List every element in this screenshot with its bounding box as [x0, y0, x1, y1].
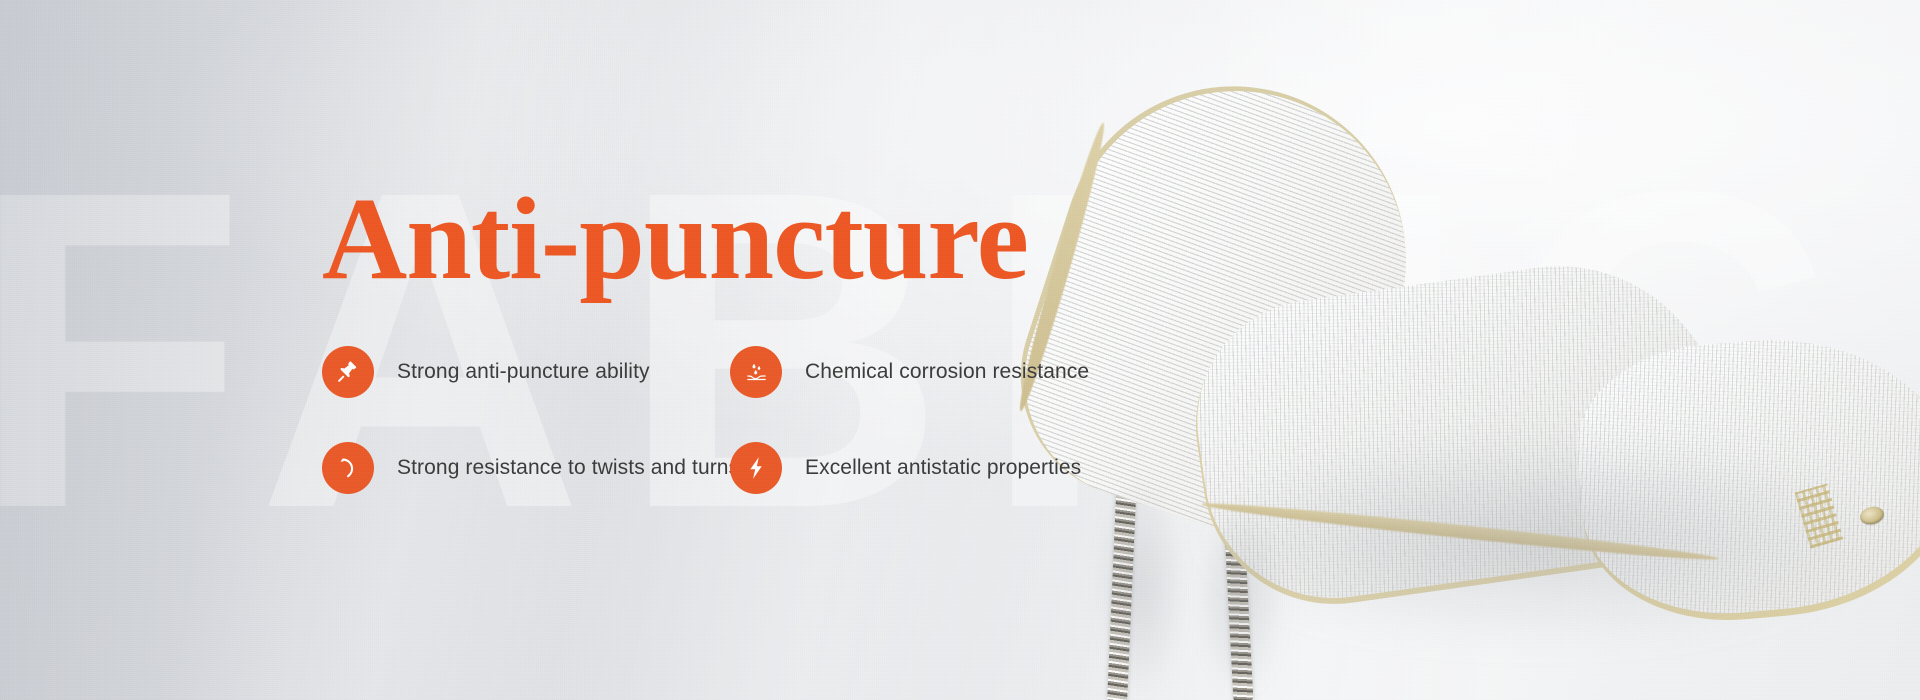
anti-puncture-insole-plate — [1060, 95, 1920, 625]
rotate-twist-icon — [322, 442, 374, 494]
feature-item-antistatic: Excellent antistatic properties — [730, 442, 1089, 494]
banner-content: Anti-puncture Strong anti-puncture abili… — [322, 180, 1089, 494]
pushpin-icon — [322, 346, 374, 398]
anti-puncture-banner: FABRIC Anti-p — [0, 0, 1920, 700]
feature-label: Chemical corrosion resistance — [805, 360, 1089, 384]
tan-binding-edge-lower — [1201, 498, 1720, 565]
page-title: Anti-puncture — [322, 180, 1089, 298]
woven-fabric-plate — [1060, 95, 1920, 625]
nail-left-shadow — [1096, 470, 1186, 700]
threaded-nail-right — [1219, 424, 1253, 700]
feature-item-anti-puncture: Strong anti-puncture ability — [322, 346, 730, 398]
plate-middle-section — [1182, 245, 1739, 614]
feature-label: Strong resistance to twists and turns — [397, 456, 739, 480]
eyelet-hole — [1858, 504, 1885, 526]
feature-item-chemical-corrosion: Chemical corrosion resistance — [730, 346, 1089, 398]
nail-right-shank — [1219, 424, 1253, 700]
feature-label: Excellent antistatic properties — [805, 456, 1081, 480]
nail-left-tip — [1122, 353, 1141, 388]
feature-list: Strong anti-puncture ability Chemical co… — [322, 346, 1089, 494]
lightning-bolt-icon — [730, 442, 782, 494]
feature-item-twist-resistance: Strong resistance to twists and turns — [322, 442, 730, 494]
nail-left-shank — [1107, 383, 1141, 700]
etched-marking — [1795, 483, 1844, 548]
nail-right-tip — [1218, 395, 1238, 430]
plate-drop-shadow — [1180, 430, 1900, 650]
plate-heel-section — [1569, 324, 1920, 625]
droplet-corrosion-icon — [730, 346, 782, 398]
threaded-nail-left — [1107, 383, 1141, 700]
nail-right-shadow — [1196, 500, 1286, 700]
feature-label: Strong anti-puncture ability — [397, 360, 650, 384]
